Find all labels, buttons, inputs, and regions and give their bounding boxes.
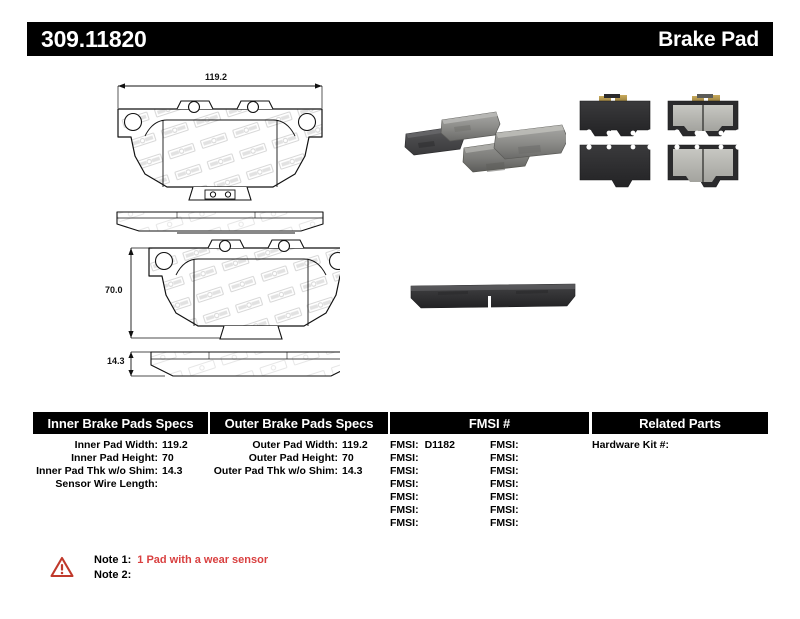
fmsi-label: FMSI: xyxy=(490,452,519,464)
fmsi-value: D1182 xyxy=(419,439,455,451)
fmsi-value xyxy=(419,478,425,490)
brake-pad-set-face-photo xyxy=(566,92,746,204)
note-2-value xyxy=(131,569,137,581)
part-number: 309.11820 xyxy=(41,28,147,51)
spec-table: Inner Brake Pads Specs Outer Brake Pads … xyxy=(33,412,768,537)
warning-triangle-icon xyxy=(50,556,74,578)
fmsi-label: FMSI: xyxy=(390,465,419,477)
spec-value: 14.3 xyxy=(338,465,362,478)
related-parts-body: Hardware Kit #: xyxy=(592,439,768,452)
note-1-value: 1 Pad with a wear sensor xyxy=(131,554,268,566)
brake-pad-top-view-drawing: 119.2 xyxy=(105,74,335,234)
note-2-label: Note 2: xyxy=(94,569,131,581)
spec-label: Sensor Wire Length: xyxy=(33,478,158,491)
spec-value: 70 xyxy=(338,452,354,465)
spec-value: 119.2 xyxy=(338,439,368,452)
outer-specs-body: Outer Pad Width: 119.2 Outer Pad Height:… xyxy=(210,439,388,478)
illustration-area: 119.2 xyxy=(0,62,800,392)
fmsi-value xyxy=(419,465,425,477)
fmsi-row: FMSI: xyxy=(390,465,490,478)
spec-row: Outer Pad Thk w/o Shim: 14.3 xyxy=(210,465,388,478)
spec-value: 14.3 xyxy=(158,465,182,478)
fmsi-label: FMSI: xyxy=(490,491,519,503)
spec-value: 70 xyxy=(158,452,174,465)
fmsi-value xyxy=(519,491,525,503)
inner-specs-body: Inner Pad Width: 119.2 Inner Pad Height:… xyxy=(33,439,208,491)
top-view-width-dimension: 119.2 xyxy=(205,72,227,82)
product-type-label: Brake Pad xyxy=(658,29,759,50)
fmsi-value xyxy=(519,478,525,490)
fmsi-label: FMSI: xyxy=(490,478,519,490)
fmsi-row: FMSI: xyxy=(390,504,490,517)
note-1-line: Note 1:1 Pad with a wear sensor xyxy=(94,553,268,567)
fmsi-value xyxy=(519,465,525,477)
fmsi-label: FMSI: xyxy=(390,517,419,529)
fmsi-row: FMSI: xyxy=(390,478,490,491)
fmsi-value xyxy=(419,452,425,464)
column-header-fmsi: FMSI # xyxy=(390,412,589,434)
fmsi-label: FMSI: xyxy=(390,439,419,451)
fmsi-label: FMSI: xyxy=(390,452,419,464)
spec-label: Outer Pad Thk w/o Shim: xyxy=(210,465,338,478)
spec-row: Sensor Wire Length: xyxy=(33,478,208,491)
fmsi-row: FMSI: xyxy=(390,452,490,465)
fmsi-label: FMSI: xyxy=(490,517,519,529)
brake-pad-set-angled-photo xyxy=(400,102,585,212)
fmsi-value xyxy=(419,517,425,529)
fmsi-row: FMSI: xyxy=(390,517,490,530)
brake-pad-edge-photo xyxy=(408,270,578,318)
related-part-label: Hardware Kit #: xyxy=(592,439,669,451)
fmsi-row: FMSI: xyxy=(490,517,589,530)
fmsi-label: FMSI: xyxy=(390,504,419,516)
note-1-label: Note 1: xyxy=(94,554,131,566)
spec-row: Inner Pad Height: 70 xyxy=(33,452,208,465)
fmsi-label: FMSI: xyxy=(490,504,519,516)
column-header-related-parts: Related Parts xyxy=(592,412,768,434)
spec-row: Inner Pad Width: 119.2 xyxy=(33,439,208,452)
spec-row: Inner Pad Thk w/o Shim: 14.3 xyxy=(33,465,208,478)
notes-area: Note 1:1 Pad with a wear sensor Note 2: xyxy=(50,553,450,593)
spec-row: Outer Pad Width: 119.2 xyxy=(210,439,388,452)
fmsi-value xyxy=(519,504,525,516)
spec-value xyxy=(158,478,162,491)
fmsi-label: FMSI: xyxy=(490,439,519,451)
fmsi-value xyxy=(519,517,525,529)
spec-label: Inner Pad Width: xyxy=(33,439,158,452)
fmsi-value xyxy=(519,439,525,451)
front-view-thickness-dimension: 14.3 xyxy=(107,356,125,366)
fmsi-value xyxy=(519,452,525,464)
column-header-inner-specs: Inner Brake Pads Specs xyxy=(33,412,208,434)
spec-row: Outer Pad Height: 70 xyxy=(210,452,388,465)
spec-label: Outer Pad Width: xyxy=(210,439,338,452)
front-view-height-dimension: 70.0 xyxy=(105,285,123,295)
note-2-line: Note 2: xyxy=(94,568,137,582)
fmsi-row: FMSI: xyxy=(490,452,589,465)
fmsi-row: FMSI:D1182 xyxy=(390,439,490,452)
fmsi-body: FMSI:D1182 FMSI: FMSI: FMSI: FMSI: FMSI: xyxy=(390,439,589,530)
spec-value: 119.2 xyxy=(158,439,188,452)
fmsi-row: FMSI: xyxy=(490,504,589,517)
fmsi-label: FMSI: xyxy=(390,478,419,490)
spec-label: Inner Pad Thk w/o Shim: xyxy=(33,465,158,478)
fmsi-column-left: FMSI:D1182 FMSI: FMSI: FMSI: FMSI: FMSI: xyxy=(390,439,490,530)
fmsi-label: FMSI: xyxy=(490,465,519,477)
spec-label: Outer Pad Height: xyxy=(210,452,338,465)
spec-label: Inner Pad Height: xyxy=(33,452,158,465)
fmsi-value xyxy=(419,491,425,503)
fmsi-label: FMSI: xyxy=(390,491,419,503)
fmsi-column-right: FMSI: FMSI: FMSI: FMSI: FMSI: FMSI: xyxy=(490,439,589,530)
related-part-row: Hardware Kit #: xyxy=(592,439,768,452)
brake-pad-front-view-drawing: 70.0 14.3 xyxy=(105,228,340,388)
fmsi-row: FMSI: xyxy=(490,465,589,478)
fmsi-row: FMSI: xyxy=(490,478,589,491)
fmsi-row: FMSI: xyxy=(490,439,589,452)
column-header-outer-specs: Outer Brake Pads Specs xyxy=(210,412,388,434)
fmsi-row: FMSI: xyxy=(490,491,589,504)
fmsi-row: FMSI: xyxy=(390,491,490,504)
fmsi-value xyxy=(419,504,425,516)
header-banner: 309.11820 Brake Pad xyxy=(27,22,773,56)
